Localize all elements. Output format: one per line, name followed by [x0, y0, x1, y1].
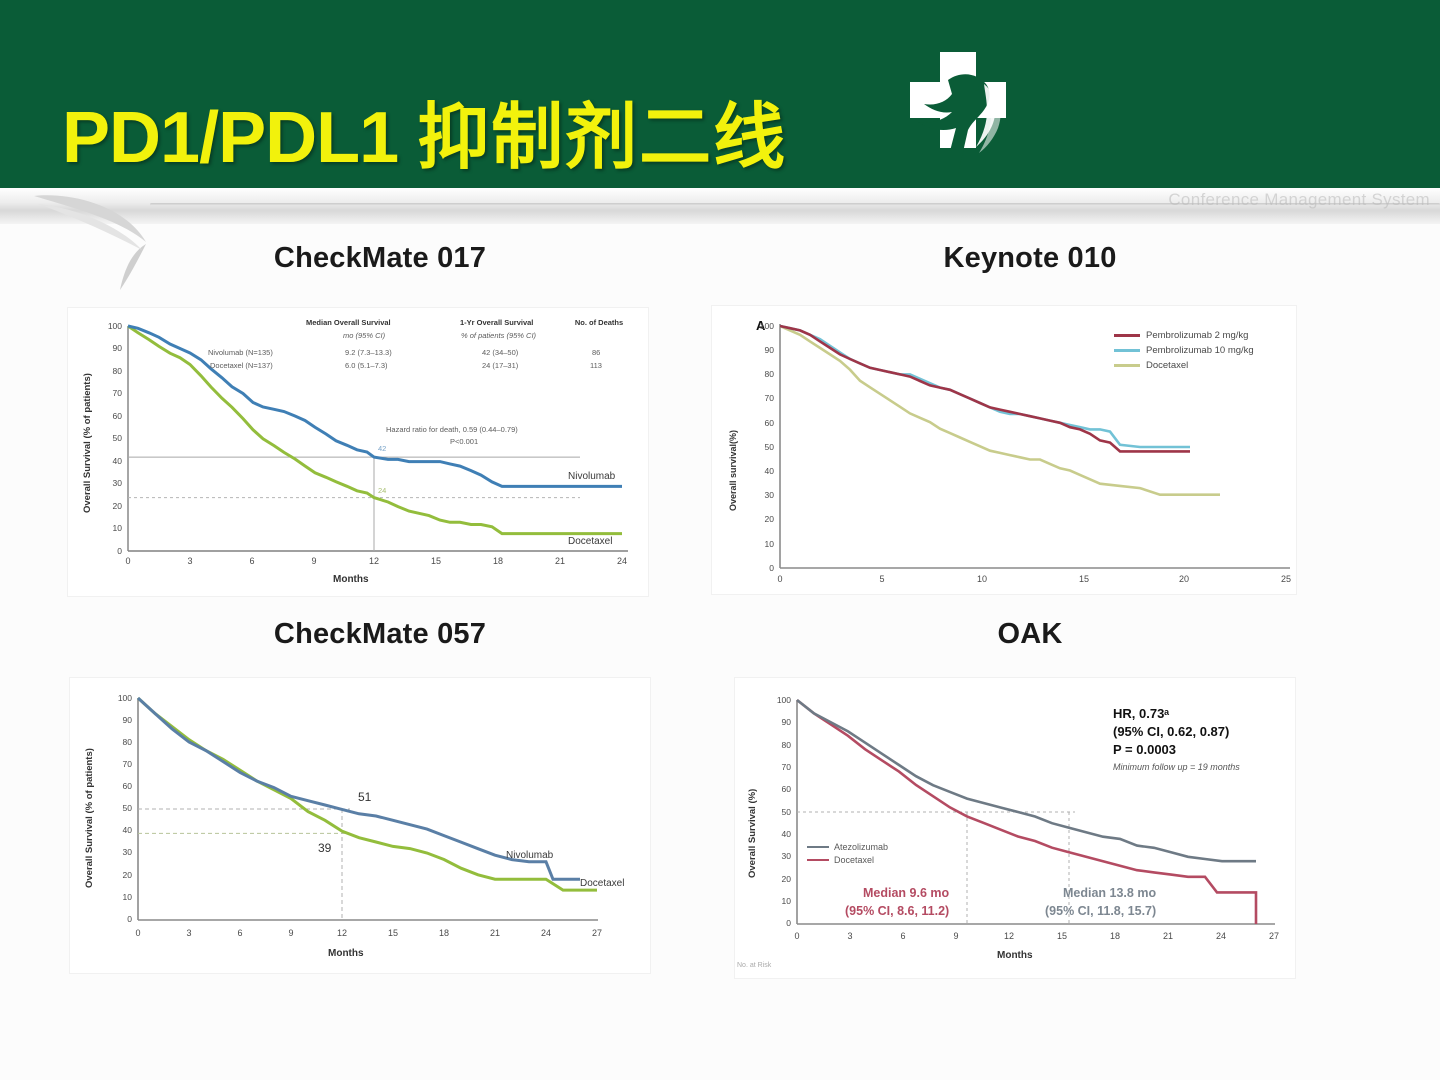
legend-swatch-pembro10: [1114, 349, 1140, 352]
ytick-10: 10: [92, 523, 122, 533]
ytick-k-0: 0: [742, 563, 774, 573]
chart-svg-checkmate057: [70, 678, 650, 973]
table-row-label-docetaxel: Docetaxel (N=137): [210, 361, 273, 370]
ytick-k-70: 70: [742, 393, 774, 403]
xaxis-label-checkmate017: Months: [333, 574, 369, 585]
ytick-80: 80: [92, 366, 122, 376]
yaxis-label-checkmate057: Overall Survival (% of patients): [84, 748, 95, 888]
ytick-k-50: 50: [742, 442, 774, 452]
xtick-oak-6: 6: [891, 931, 915, 941]
xtick-57-9: 9: [279, 928, 303, 938]
ytick-57-70: 70: [100, 759, 132, 769]
xtick-57-12: 12: [330, 928, 354, 938]
chart-panel-checkmate057: 100 90 80 70 60 50 40 30 20 10 0 0 3 6 9…: [70, 678, 650, 973]
xtick-9: 9: [302, 556, 326, 566]
xtick-57-0: 0: [126, 928, 150, 938]
marker-39: 39: [318, 841, 331, 855]
xtick-3: 3: [178, 556, 202, 566]
ytick-oak-10: 10: [759, 896, 791, 906]
ytick-oak-50: 50: [759, 807, 791, 817]
ytick-57-40: 40: [100, 825, 132, 835]
xtick-21: 21: [548, 556, 572, 566]
ytick-k-80: 80: [742, 369, 774, 379]
xtick-57-3: 3: [177, 928, 201, 938]
ytick-k-90: 90: [742, 345, 774, 355]
legend-item-docetaxel-oak: Docetaxel: [807, 855, 888, 865]
curve-label-docetaxel-057: Docetaxel: [580, 878, 624, 889]
xaxis-label-oak: Months: [997, 950, 1033, 961]
xtick-oak-12: 12: [997, 931, 1021, 941]
legend-item-pembro10: Pembrolizumab 10 mg/kg: [1114, 345, 1254, 356]
curve-label-docetaxel-017: Docetaxel: [568, 536, 612, 547]
legend-item-pembro2: Pembrolizumab 2 mg/kg: [1114, 330, 1254, 341]
chart-title-oak: OAK: [830, 618, 1230, 651]
ytick-57-30: 30: [100, 847, 132, 857]
ytick-57-80: 80: [100, 737, 132, 747]
table-row-label-nivolumab: Nivolumab (N=135): [208, 348, 273, 357]
table-header-deaths: No. of Deaths: [573, 318, 625, 327]
legend-swatch-atezolizumab: [807, 846, 829, 848]
xtick-57-27: 27: [585, 928, 609, 938]
ytick-oak-100: 100: [759, 695, 791, 705]
table-subheader-median-os: mo (95% CI): [343, 331, 385, 340]
table-row-deaths-nivolumab: 86: [592, 348, 600, 357]
marker-42: 42: [378, 444, 386, 453]
chart-title-checkmate017: CheckMate 017: [160, 242, 600, 275]
yaxis-label-oak: Overall Survival (%): [747, 789, 758, 878]
xtick-k-25: 25: [1274, 574, 1298, 584]
ytick-90: 90: [92, 343, 122, 353]
xtick-24: 24: [610, 556, 634, 566]
hazard-ratio-text: Hazard ratio for death, 0.59 (0.44–0.79): [386, 425, 518, 434]
page-title: PD1/PDL1 抑制剂二线: [62, 78, 787, 183]
legend-oak: Atezolizumab Docetaxel: [807, 842, 888, 865]
ytick-30: 30: [92, 478, 122, 488]
xtick-57-21: 21: [483, 928, 507, 938]
ytick-oak-80: 80: [759, 740, 791, 750]
oak-hr-text: HR, 0.73ᵃ: [1113, 706, 1169, 721]
ytick-57-10: 10: [100, 892, 132, 902]
leaf-decoration-icon: [28, 186, 258, 296]
table-row-median-docetaxel: 6.0 (5.1–7.3): [345, 361, 388, 370]
marker-51: 51: [358, 790, 371, 804]
page-title-latin: PD1/PDL1: [62, 98, 398, 178]
slide-header: PD1/PDL1 抑制剂二线: [0, 0, 1440, 190]
xtick-57-15: 15: [381, 928, 405, 938]
ytick-k-100: 100: [742, 321, 774, 331]
xtick-6: 6: [240, 556, 264, 566]
xtick-oak-9: 9: [944, 931, 968, 941]
xtick-k-15: 15: [1072, 574, 1096, 584]
ytick-57-20: 20: [100, 870, 132, 880]
legend-label-atezolizumab: Atezolizumab: [834, 842, 888, 852]
chart-panel-keynote010: A 100 90 80 70 60 50 40 30 20 10 0 0 5 1…: [712, 306, 1296, 594]
ytick-k-30: 30: [742, 490, 774, 500]
series-docetaxel-checkmate017: [128, 326, 622, 534]
xtick-oak-24: 24: [1209, 931, 1233, 941]
oak-median-atezolizumab: Median 13.8 mo: [1063, 886, 1156, 900]
table-row-deaths-docetaxel: 113: [590, 361, 602, 370]
table-row-median-nivolumab: 9.2 (7.3–13.3): [345, 348, 392, 357]
legend-keynote010: Pembrolizumab 2 mg/kg Pembrolizumab 10 m…: [1114, 330, 1254, 371]
oak-median-atezolizumab-ci: (95% CI, 11.8, 15.7): [1045, 904, 1156, 918]
ytick-oak-70: 70: [759, 762, 791, 772]
xtick-oak-3: 3: [838, 931, 862, 941]
table-row-1yr-docetaxel: 24 (17–31): [482, 361, 518, 370]
oak-followup-text: Minimum follow up = 19 months: [1113, 762, 1240, 772]
ytick-oak-60: 60: [759, 784, 791, 794]
xtick-k-0: 0: [768, 574, 792, 584]
ytick-k-20: 20: [742, 514, 774, 524]
xaxis-label-checkmate057: Months: [328, 948, 364, 959]
xtick-12: 12: [362, 556, 386, 566]
ytick-oak-30: 30: [759, 851, 791, 861]
p-value-text: P<0.001: [450, 437, 478, 446]
xtick-k-20: 20: [1172, 574, 1196, 584]
chart-title-checkmate057: CheckMate 057: [160, 618, 600, 651]
ytick-57-60: 60: [100, 781, 132, 791]
legend-label-pembro2: Pembrolizumab 2 mg/kg: [1146, 330, 1248, 341]
ytick-60: 60: [92, 411, 122, 421]
curve-label-nivolumab-017: Nivolumab: [568, 471, 615, 482]
xtick-oak-27: 27: [1262, 931, 1286, 941]
oak-median-docetaxel-ci: (95% CI, 8.6, 11.2): [845, 904, 949, 918]
ytick-20: 20: [92, 501, 122, 511]
ytick-40: 40: [92, 456, 122, 466]
legend-item-docetaxel-k: Docetaxel: [1114, 360, 1254, 371]
chart-panel-oak: 100 90 80 70 60 50 40 30 20 10 0 0 3 6 9…: [735, 678, 1295, 978]
ytick-70: 70: [92, 388, 122, 398]
legend-label-docetaxel-oak: Docetaxel: [834, 855, 874, 865]
xtick-15: 15: [424, 556, 448, 566]
xtick-57-6: 6: [228, 928, 252, 938]
ytick-k-40: 40: [742, 466, 774, 476]
chart-panel-checkmate017: 100 90 80 70 60 50 40 30 20 10 0 0 3 6 9…: [68, 308, 648, 596]
xtick-k-5: 5: [870, 574, 894, 584]
axes-checkmate057: [138, 698, 598, 920]
legend-swatch-docetaxel-k: [1114, 364, 1140, 367]
xtick-oak-0: 0: [785, 931, 809, 941]
xtick-57-24: 24: [534, 928, 558, 938]
xtick-oak-15: 15: [1050, 931, 1074, 941]
table-header-1yr-os: 1-Yr Overall Survival: [460, 318, 533, 327]
watermark-text: Conference Management System: [1168, 190, 1430, 210]
legend-label-docetaxel-k: Docetaxel: [1146, 360, 1188, 371]
ytick-57-0: 0: [100, 914, 132, 924]
legend-item-atezolizumab: Atezolizumab: [807, 842, 888, 852]
bird-medical-cross-logo: [888, 44, 1028, 184]
legend-label-pembro10: Pembrolizumab 10 mg/kg: [1146, 345, 1254, 356]
yaxis-label-keynote010: Overall survival(%): [728, 430, 738, 511]
ytick-100: 100: [92, 321, 122, 331]
ytick-57-90: 90: [100, 715, 132, 725]
marker-24: 24: [378, 486, 386, 495]
ytick-oak-20: 20: [759, 874, 791, 884]
xtick-57-18: 18: [432, 928, 456, 938]
curve-label-nivolumab-057: Nivolumab: [506, 850, 553, 861]
ytick-k-60: 60: [742, 418, 774, 428]
ytick-oak-90: 90: [759, 717, 791, 727]
ytick-50: 50: [92, 433, 122, 443]
xtick-0: 0: [116, 556, 140, 566]
ytick-k-10: 10: [742, 539, 774, 549]
oak-no-at-risk-label: No. at Risk: [737, 962, 771, 969]
ytick-oak-0: 0: [759, 918, 791, 928]
xtick-18: 18: [486, 556, 510, 566]
xtick-oak-21: 21: [1156, 931, 1180, 941]
table-header-median-os: Median Overall Survival: [306, 318, 391, 327]
oak-p-value-text: P = 0.0003: [1113, 742, 1176, 757]
table-row-1yr-nivolumab: 42 (34–50): [482, 348, 518, 357]
legend-swatch-docetaxel-oak: [807, 859, 829, 861]
xtick-k-10: 10: [970, 574, 994, 584]
xtick-oak-18: 18: [1103, 931, 1127, 941]
ytick-57-100: 100: [100, 693, 132, 703]
table-subheader-1yr-os: % of patients (95% CI): [461, 331, 536, 340]
ytick-oak-40: 40: [759, 829, 791, 839]
yaxis-label-checkmate017: Overall Survival (% of patients): [82, 373, 93, 513]
chart-title-keynote010: Keynote 010: [830, 242, 1230, 275]
oak-ci-text: (95% CI, 0.62, 0.87): [1113, 724, 1229, 739]
ytick-0: 0: [92, 546, 122, 556]
oak-median-docetaxel: Median 9.6 mo: [863, 886, 949, 900]
legend-swatch-pembro2: [1114, 334, 1140, 337]
page-title-chinese: 抑制剂二线: [417, 95, 787, 179]
ytick-57-50: 50: [100, 803, 132, 813]
